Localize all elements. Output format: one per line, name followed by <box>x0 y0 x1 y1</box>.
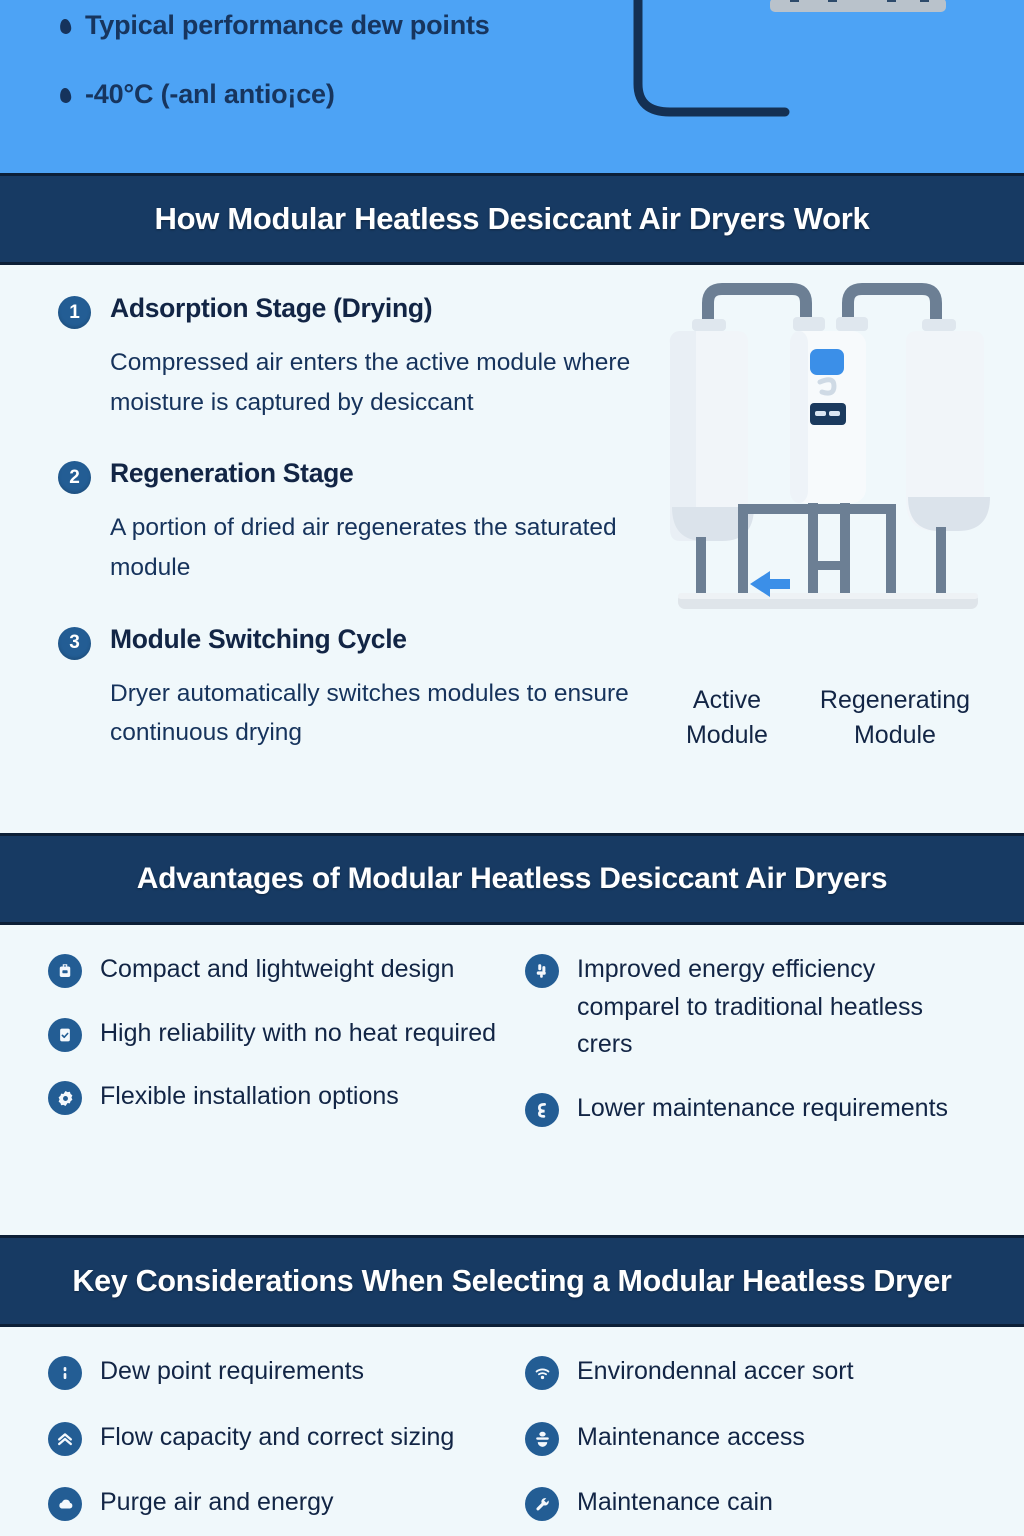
filter-icon <box>525 1422 559 1456</box>
wrench-icon <box>525 1487 559 1521</box>
clipboard-check-icon <box>48 1018 82 1052</box>
section-header-key-considerations: Key Considerations When Selecting a Modu… <box>0 1235 1024 1327</box>
section-header-advantages: Advantages of Modular Heatless Desiccant… <box>0 833 1024 925</box>
steps-list: 1 Adsorption Stage (Drying) Compressed a… <box>58 293 658 789</box>
list-item-label: Lower maintenance requirements <box>577 1090 948 1128</box>
list-item: High reliability with no heat required <box>48 1015 499 1053</box>
twin-tower-dryer-illustration <box>660 275 996 700</box>
step-item: 1 Adsorption Stage (Drying) Compressed a… <box>58 293 658 422</box>
list-item: Maintenance access <box>525 1419 976 1457</box>
list-item-label: Environdennal accer sort <box>577 1353 854 1391</box>
step-item: 3 Module Switching Cycle Dryer automatic… <box>58 624 658 753</box>
label-active-module: Active Module <box>686 683 768 752</box>
list-item: Environdennal accer sort <box>525 1353 976 1391</box>
wifi-signal-icon <box>525 1356 559 1390</box>
step-number-badge: 1 <box>58 296 91 329</box>
section-title: How Modular Heatless Desiccant Air Dryer… <box>155 201 870 237</box>
list-item-label: High reliability with no heat required <box>100 1015 496 1053</box>
section-header-how-it-works: How Modular Heatless Desiccant Air Dryer… <box>0 173 1024 265</box>
step-title: Adsorption Stage (Drying) <box>110 293 432 325</box>
list-item-label: Maintenance access <box>577 1419 805 1457</box>
step-number-badge: 3 <box>58 627 91 660</box>
list-item: Maintenance cain <box>525 1484 976 1522</box>
list-item: Lower maintenance requirements <box>525 1090 976 1128</box>
list-item: Dew point requirements <box>48 1353 499 1391</box>
list-item-label: Compact and lightweight design <box>100 951 454 989</box>
list-item-label: Flexible installation options <box>100 1078 399 1116</box>
chevrons-up-icon <box>48 1422 82 1456</box>
list-item: Flexible installation options <box>48 1078 499 1116</box>
bullet-dot-icon <box>59 87 72 103</box>
key-considerations-section: Dew point requirements Flow capacity and… <box>0 1327 1024 1527</box>
label-regenerating-module: Regenerating Module <box>820 683 970 752</box>
step-item: 2 Regeneration Stage A portion of dried … <box>58 458 658 587</box>
list-item-label: Flow capacity and correct sizing <box>100 1419 454 1457</box>
hero-dryer-illustration <box>600 0 1024 172</box>
considerations-left-column: Dew point requirements Flow capacity and… <box>48 1353 499 1527</box>
gear-icon <box>48 1081 82 1115</box>
hero-banner: Typical performance dew points -40°C (-a… <box>0 0 1024 173</box>
list-item-label: Improved energy efficiency comparel to t… <box>577 951 976 1064</box>
list-item: Flow capacity and correct sizing <box>48 1419 499 1457</box>
step-header: 2 Regeneration Stage <box>58 458 658 494</box>
infographic-page: Typical performance dew points -40°C (-a… <box>0 0 1024 1536</box>
bullet-dot-icon <box>59 18 72 34</box>
considerations-right-column: Environdennal accer sort Maintenance acc… <box>525 1353 976 1527</box>
list-item-label: Maintenance cain <box>577 1484 773 1522</box>
hero-bullet-list: Typical performance dew points -40°C (-a… <box>60 10 580 148</box>
list-item: Compact and lightweight design <box>48 951 499 989</box>
hero-bullet-item: -40°C (-anl antio¡ce) <box>60 79 580 110</box>
advantages-left-column: Compact and lightweight design High reli… <box>48 951 499 1235</box>
section-title: Advantages of Modular Heatless Desiccant… <box>137 862 888 896</box>
step-description: A portion of dried air regenerates the s… <box>110 508 650 587</box>
list-item: Purge air and energy <box>48 1484 499 1522</box>
advantages-right-column: Improved energy efficiency comparel to t… <box>525 951 976 1235</box>
how-it-works-section: 1 Adsorption Stage (Drying) Compressed a… <box>0 265 1024 833</box>
list-item-label: Purge air and energy <box>100 1484 333 1522</box>
energy-plug-icon <box>525 954 559 988</box>
twin-tower-dryer-svg <box>660 275 996 695</box>
hero-bullet-label: -40°C (-anl antio¡ce) <box>85 79 335 110</box>
step-header: 3 Module Switching Cycle <box>58 624 658 660</box>
section-title: Key Considerations When Selecting a Modu… <box>72 1264 951 1299</box>
step-title: Module Switching Cycle <box>110 624 407 656</box>
advantages-section: Compact and lightweight design High reli… <box>0 925 1024 1235</box>
step-description: Dryer automatically switches modules to … <box>110 674 650 753</box>
dryer-module-labels: Active Module Regenerating Module <box>660 683 996 752</box>
briefcase-icon <box>48 954 82 988</box>
cloud-icon <box>48 1487 82 1521</box>
list-item-label: Dew point requirements <box>100 1353 364 1391</box>
step-number-badge: 2 <box>58 461 91 494</box>
wave-flow-icon <box>525 1093 559 1127</box>
list-item: Improved energy efficiency comparel to t… <box>525 951 976 1064</box>
step-title: Regeneration Stage <box>110 458 353 490</box>
hero-dryer-svg <box>600 0 1024 172</box>
info-icon <box>48 1356 82 1390</box>
hero-bullet-item: Typical performance dew points <box>60 10 580 41</box>
hero-bullet-label: Typical performance dew points <box>85 10 490 41</box>
step-header: 1 Adsorption Stage (Drying) <box>58 293 658 329</box>
step-description: Compressed air enters the active module … <box>110 343 650 422</box>
